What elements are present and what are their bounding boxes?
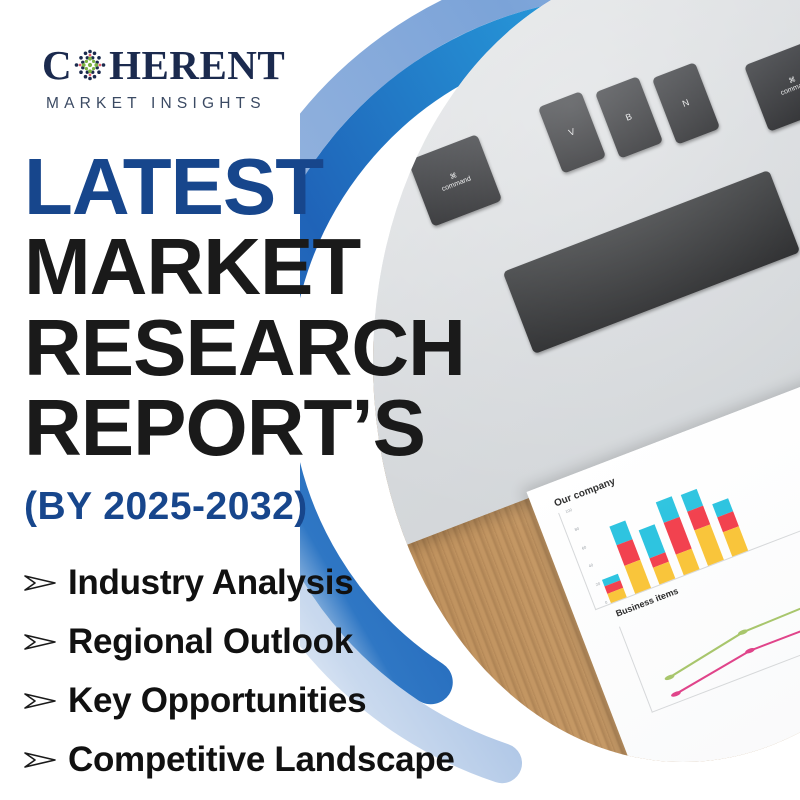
text-column: C [0, 0, 480, 800]
y-tick: 0 [605, 600, 609, 605]
y-tick: 80 [574, 527, 580, 532]
list-item-label: Industry Analysis [68, 563, 353, 603]
brand-name-first-letter: C [42, 45, 72, 86]
promo-banner: V B N ⌘ command option ⌘ command [0, 0, 800, 800]
list-item-label: Regional Outlook [68, 622, 353, 662]
y-tick: 40 [588, 564, 594, 569]
forecast-period-label: (BY 2025-2032) [24, 487, 308, 526]
bar-chart-y-axis: 100 80 60 40 20 0 [558, 508, 608, 609]
feature-list: Industry Analysis Regional Outlook Key O… [24, 553, 494, 789]
arrow-bullet-icon [24, 573, 68, 593]
y-tick: 60 [581, 545, 587, 550]
y-tick: 20 [595, 582, 601, 587]
arrow-bullet-icon [24, 750, 68, 770]
list-item-label: Key Opportunities [68, 681, 366, 721]
list-item: Competitive Landscape [24, 730, 494, 789]
key-b: B [595, 76, 663, 158]
key-label: B [624, 112, 633, 123]
globe-grid-icon [72, 47, 108, 83]
key-label: V [567, 126, 576, 137]
list-item: Regional Outlook [24, 612, 494, 671]
list-item: Industry Analysis [24, 553, 494, 612]
headline-line-1: LATEST [24, 150, 464, 224]
list-item: Key Opportunities [24, 671, 494, 730]
brand-logo[interactable]: C [42, 42, 312, 113]
y-tick: 100 [565, 508, 573, 514]
list-item-label: Competitive Landscape [68, 740, 455, 780]
key-v: V [538, 91, 606, 173]
headline-line-2: MARKET [24, 230, 464, 304]
headline-line-3: RESEARCH [24, 311, 464, 385]
arrow-bullet-icon [24, 691, 68, 711]
brand-name-rest: HERENT [109, 45, 285, 86]
arrow-bullet-icon [24, 632, 68, 652]
key-label: N [681, 97, 691, 109]
page-title: LATEST MARKET RESEARCH REPORT’S [24, 150, 464, 466]
brand-wordmark: C [42, 42, 312, 88]
headline-line-4: REPORT’S [24, 391, 464, 465]
key-command-right: ⌘ command [744, 37, 800, 132]
key-n: N [652, 62, 720, 144]
brand-tagline: MARKET INSIGHTS [46, 95, 312, 113]
